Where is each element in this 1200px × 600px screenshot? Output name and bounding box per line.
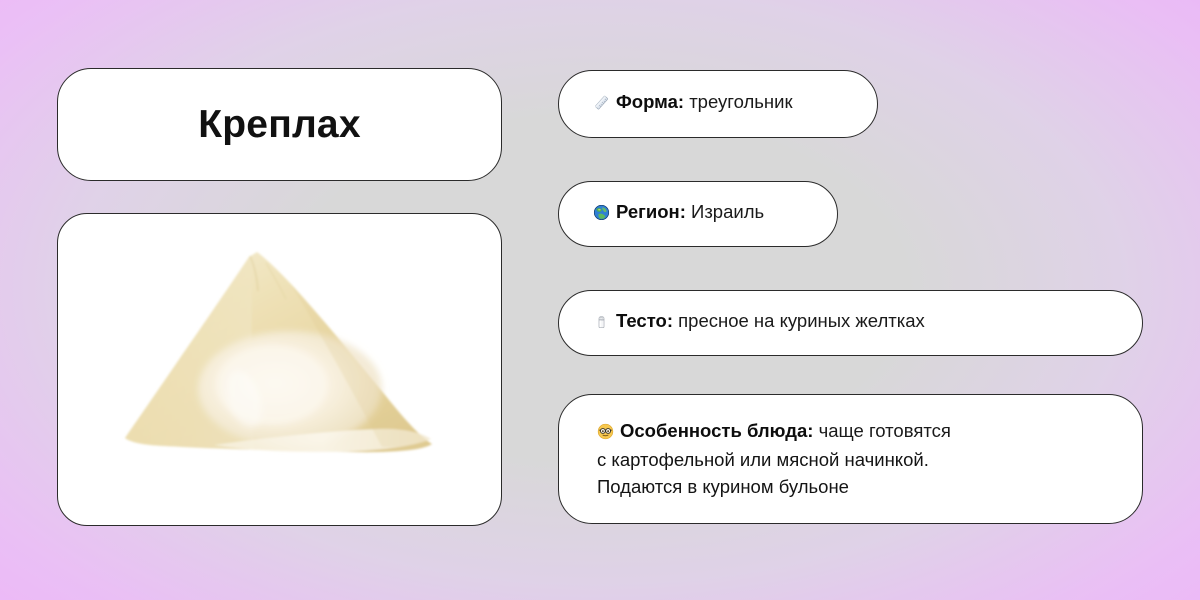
info-pill-feature: Особенность блюда: чаще готовятся с карт… — [558, 394, 1143, 524]
nerd-face-icon — [597, 421, 614, 447]
pill-shape-value: треугольник — [689, 91, 792, 112]
dish-image-card — [57, 213, 502, 526]
pill-region-label: Регион: — [616, 201, 686, 222]
pill-dough-value: пресное на куриных желтках — [678, 310, 925, 331]
pill-region-line: Регион: Израиль — [593, 199, 764, 228]
salt-shaker-icon — [593, 311, 610, 337]
ruler-icon — [593, 92, 610, 118]
dish-title-card: Креплах — [57, 68, 502, 181]
pill-shape-label: Форма: — [616, 91, 684, 112]
pill-feature-line-1: Особенность блюда: чаще готовятся — [597, 418, 951, 447]
pill-region-value: Израиль — [691, 201, 764, 222]
info-pill-shape: Форма: треугольник — [558, 70, 878, 138]
pill-feature-label: Особенность блюда: — [620, 420, 813, 441]
info-pill-dough: Тесто: пресное на куриных желтках — [558, 290, 1143, 356]
pill-feature-line-2: с картофельной или мясной начинкой. — [597, 447, 929, 473]
page-title: Креплах — [198, 105, 360, 144]
dish-photo — [94, 239, 466, 501]
pill-feature-value: чаще готовятся — [819, 420, 951, 441]
info-pill-region: Регион: Израиль — [558, 181, 838, 247]
globe-icon — [593, 202, 610, 228]
infographic-canvas: Креплах — [0, 0, 1200, 600]
pill-shape-line: Форма: треугольник — [593, 89, 793, 118]
pill-feature-line-3: Подаются в курином бульоне — [597, 474, 849, 500]
pill-dough-line: Тесто: пресное на куриных желтках — [593, 308, 925, 337]
pill-dough-label: Тесто: — [616, 310, 673, 331]
